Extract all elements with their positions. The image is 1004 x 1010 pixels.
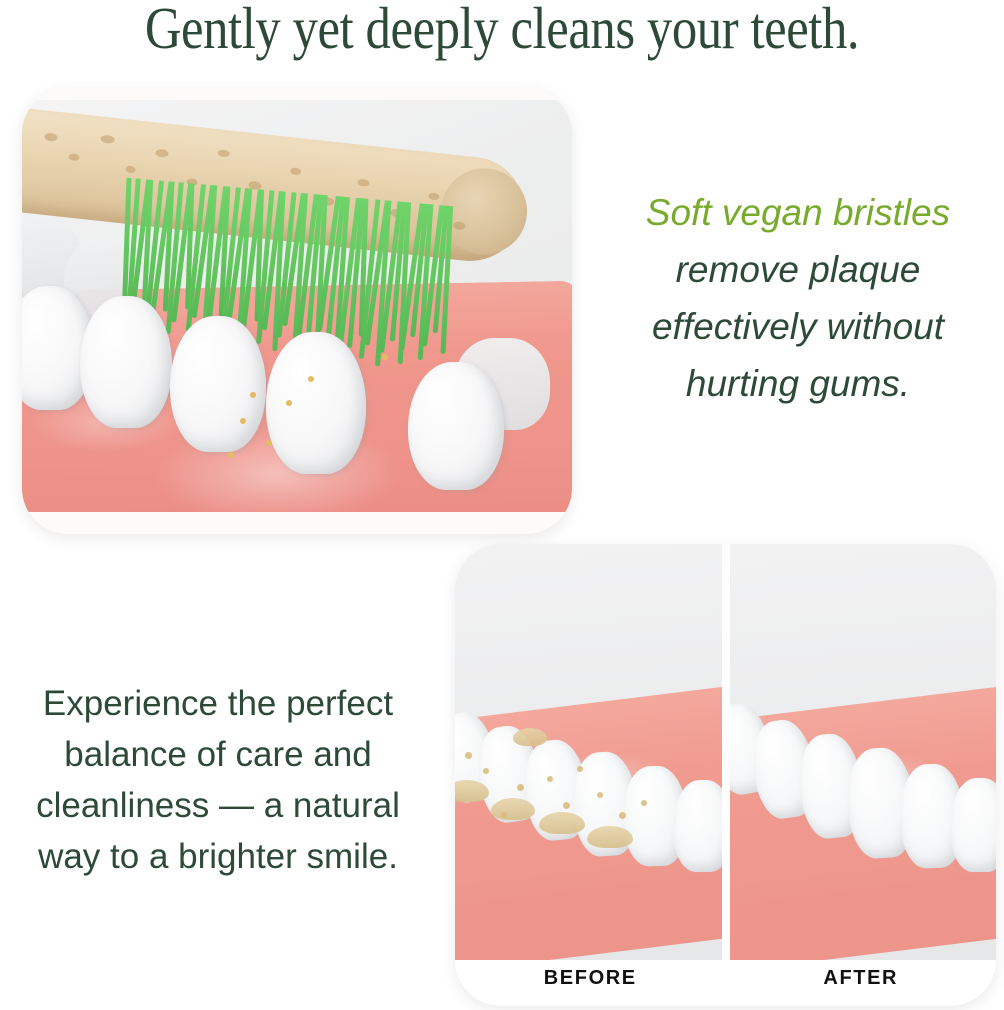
tooth [950,778,997,872]
plaque-particle [240,418,246,424]
plaque-particle [228,452,234,458]
vegan-rest-text: remove plaque effectively without hurtin… [652,249,944,404]
after-label: AFTER [726,960,997,1006]
before-after-image-card: BEFORE AFTER [455,544,996,1006]
before-after-label-strip: BEFORE AFTER [455,960,996,1006]
before-panel [455,544,722,964]
vegan-bristles-paragraph: Soft vegan bristles remove plaque effect… [596,184,1000,412]
plaque-particle [266,440,272,446]
tooth-stain [517,784,524,791]
tooth-stain [465,752,472,759]
tooth [170,316,266,452]
brushing-illustration [22,100,572,512]
tooth [266,332,366,474]
tooth-stain [563,802,570,809]
plaque-particle [250,392,256,398]
after-panel [730,544,997,964]
tartar-deposit [587,826,633,848]
vegan-highlight-text: Soft vegan bristles [646,192,950,233]
experience-paragraph: Experience the perfect balance of care a… [8,678,428,882]
before-after-panels [455,544,996,964]
plaque-particle [382,354,388,360]
tartar-deposit [539,812,585,834]
tooth-stain [619,812,626,819]
plaque-particle [308,376,314,382]
tooth-stain [641,800,647,806]
tooth [80,296,172,428]
brushing-image-card [22,88,572,534]
tooth [673,780,722,872]
tooth-stain [483,768,489,774]
tooth-stain [501,812,507,818]
tooth-stain [547,776,553,782]
page-headline: Gently yet deeply cleans your teeth. [70,0,933,60]
tooth [408,362,504,490]
tartar-deposit [513,728,547,746]
tooth-stain [597,792,603,798]
plaque-particle [286,400,292,406]
tooth-stain [577,766,583,772]
panel-divider [722,544,730,964]
before-label: BEFORE [455,960,726,1006]
tartar-deposit [491,798,535,820]
